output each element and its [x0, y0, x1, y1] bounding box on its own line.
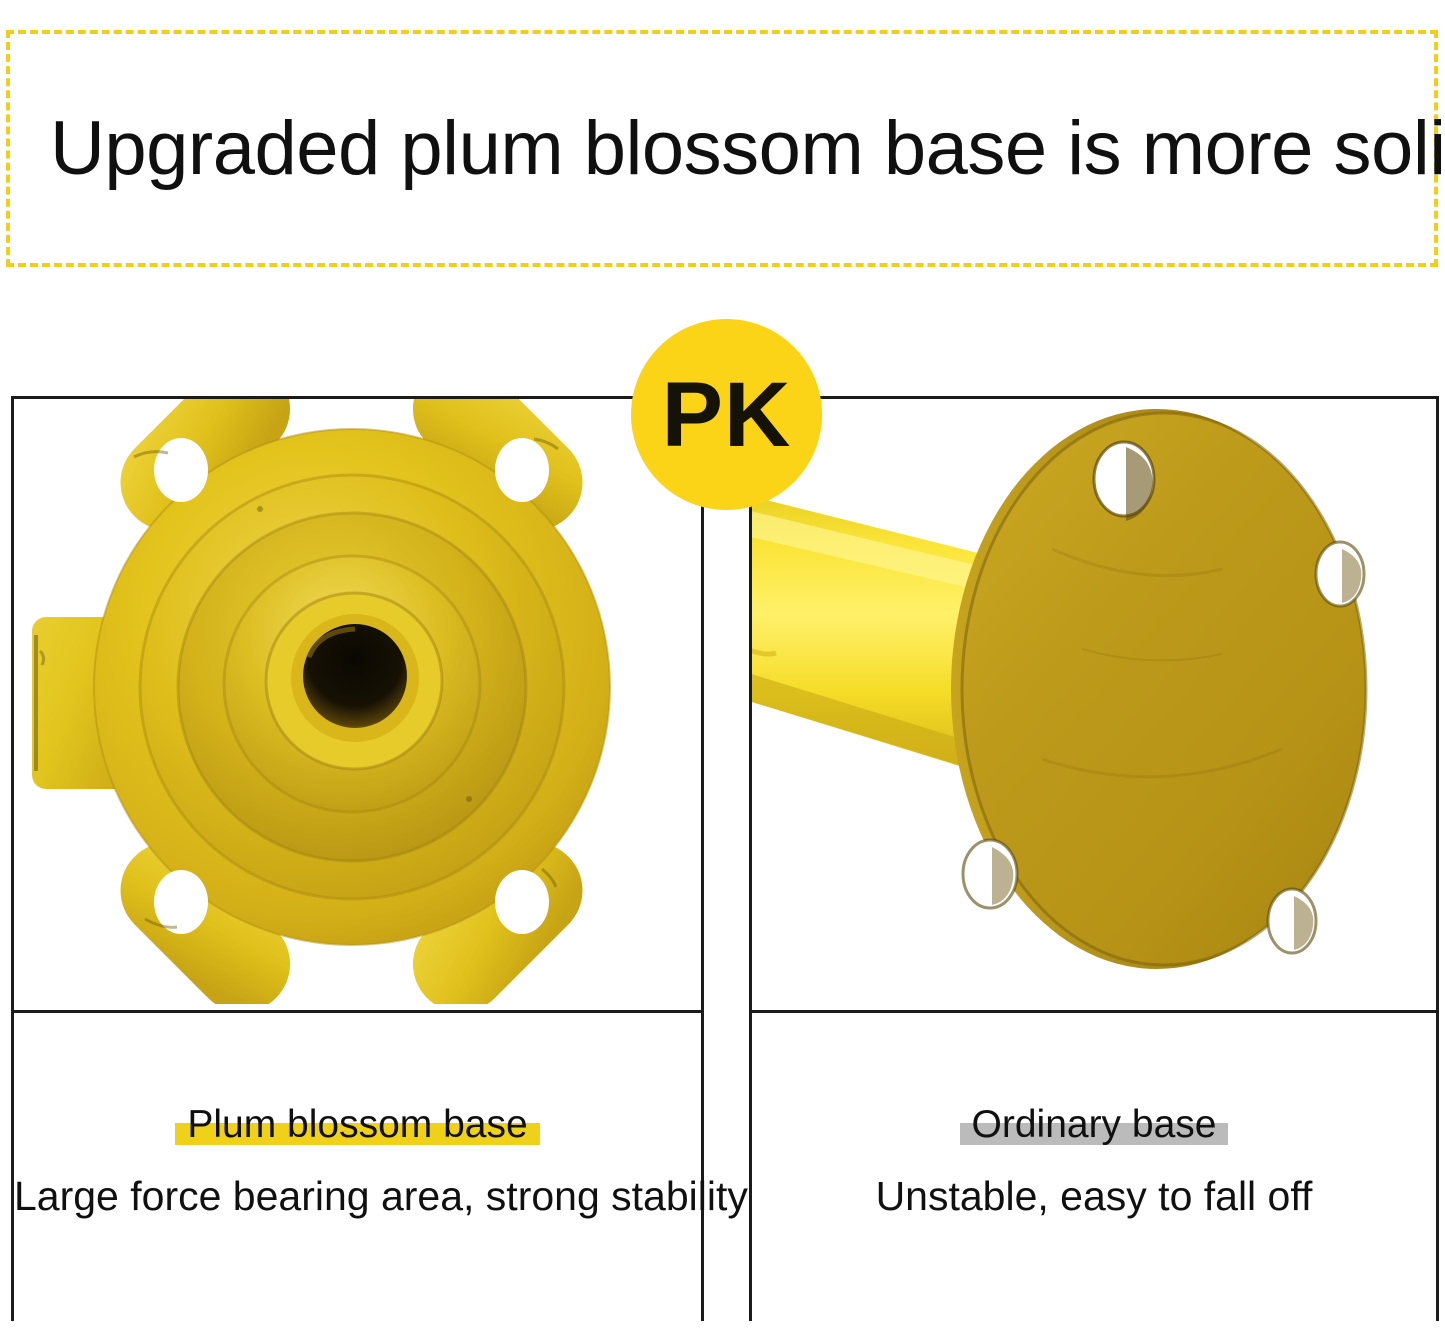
disc-mounting-hole-left: [963, 840, 1017, 908]
caption-title-left: Plum blossom base: [187, 1103, 527, 1146]
caption-right: Ordinary base Unstable, easy to fall off: [752, 1013, 1436, 1321]
caption-title-wrap-right: Ordinary base: [972, 1103, 1217, 1147]
caption-title-wrap-left: Plum blossom base: [187, 1103, 527, 1147]
mounting-hole-top-right: [495, 438, 549, 502]
product-image-ordinary-base: [752, 399, 1436, 1010]
ordinary-base-illustration: [752, 399, 1436, 1004]
infographic-page: Upgraded plum blossom base is more solid: [0, 0, 1445, 1329]
page-title: Upgraded plum blossom base is more solid: [10, 111, 1445, 187]
title-banner: Upgraded plum blossom base is more solid: [6, 30, 1438, 267]
mounting-hole-bottom-right: [495, 870, 549, 934]
mounting-hole-bottom-left: [154, 870, 208, 934]
caption-subtitle-right: Unstable, easy to fall off: [752, 1173, 1436, 1220]
disc-mounting-hole-bottom: [1268, 889, 1316, 953]
product-image-plum-blossom-base: [14, 399, 701, 1010]
mounting-hole-top-left: [154, 438, 208, 502]
plum-blossom-base-illustration: [14, 399, 701, 1004]
pk-versus-badge: PK: [631, 319, 822, 510]
caption-title-right: Ordinary base: [972, 1103, 1217, 1146]
caption-subtitle-left: Large force bearing area, strong stabili…: [14, 1173, 701, 1220]
disc-mounting-hole-right: [1316, 542, 1364, 606]
caption-left: Plum blossom base Large force bearing ar…: [14, 1013, 701, 1321]
base-plate-disc: [951, 409, 1366, 969]
pk-badge-label: PK: [662, 369, 792, 461]
comparison-panel-right: Ordinary base Unstable, easy to fall off: [749, 396, 1439, 1321]
comparison-panel-left: Plum blossom base Large force bearing ar…: [11, 396, 704, 1321]
